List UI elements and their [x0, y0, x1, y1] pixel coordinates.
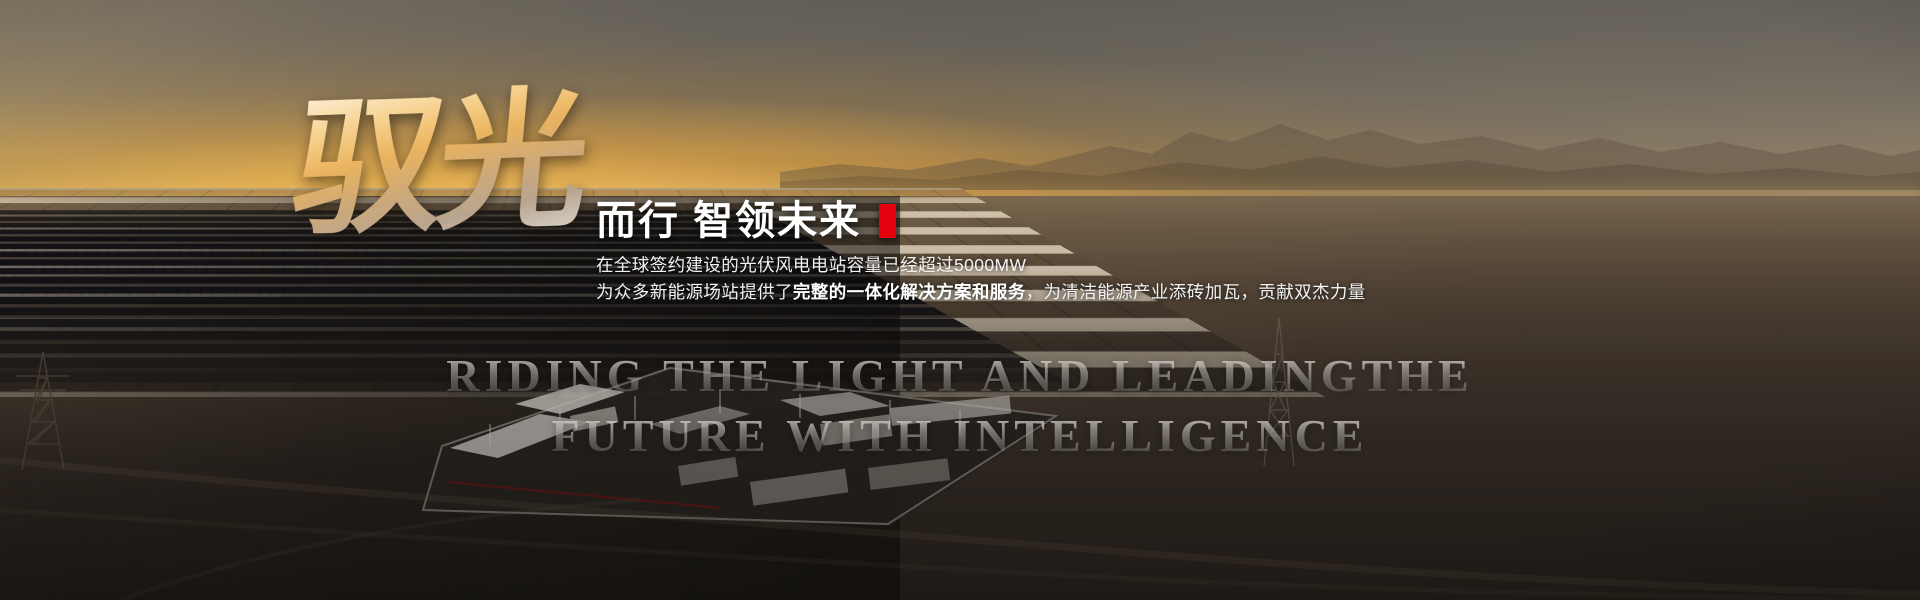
headline-row: 而行 智领未来 — [596, 200, 1776, 242]
subtitle-line-2-strong: 完整的一体化解决方案和服务 — [793, 282, 1026, 302]
dirt-tracks — [0, 400, 1920, 600]
subtitle-line-2-part1: 为众多新能源场站提供了 — [596, 282, 793, 302]
hero-banner: 驭光 而行 智领未来 在全球签约建设的光伏风电电站容量已经超过5000MW 为众… — [0, 0, 1920, 600]
subtitle-line-2-part2: ，为清洁能源产业添砖加瓦，贡献双杰力量 — [1026, 282, 1366, 302]
page-title: 而行 智领未来 — [596, 200, 861, 242]
subtitle-line-2: 为众多新能源场站提供了完整的一体化解决方案和服务，为清洁能源产业添砖加瓦，贡献双… — [596, 279, 1776, 306]
hero-copy: 而行 智领未来 在全球签约建设的光伏风电电站容量已经超过5000MW 为众多新能… — [596, 200, 1776, 306]
red-accent-block — [879, 204, 896, 238]
mountain-range — [780, 84, 1920, 190]
subtitle-line-1: 在全球签约建设的光伏风电电站容量已经超过5000MW — [596, 252, 1776, 279]
